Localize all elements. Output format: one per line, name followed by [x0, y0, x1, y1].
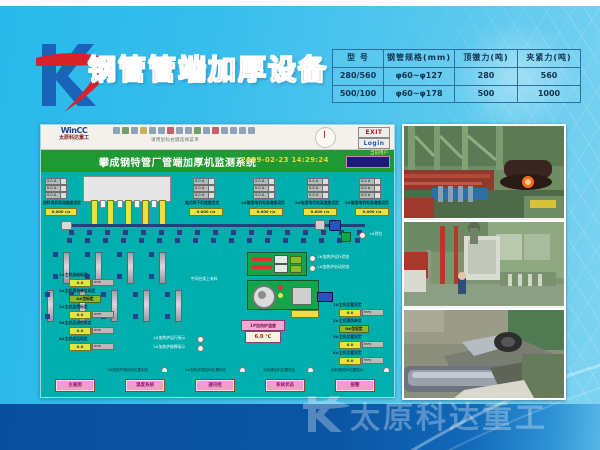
param-name: 4#主机成品标定 — [59, 336, 88, 342]
param-unit: mm — [94, 344, 101, 349]
lamp-indicator — [197, 336, 204, 343]
readout-value: 0.0 A — [361, 186, 370, 191]
readout-unit — [268, 186, 274, 191]
param-unit-box: mm — [92, 327, 114, 334]
cell-model: 500/100 — [333, 85, 384, 103]
readout: 0.0 A — [307, 192, 329, 199]
readout-value: 0.0 A — [361, 193, 370, 198]
param-value[interactable]: 0.0 — [69, 279, 91, 287]
wincc-logo-text: WinCC — [45, 126, 103, 135]
nozzle-icon — [117, 200, 123, 208]
param-name: 3#主机后退位标定 — [59, 320, 91, 326]
furnace-column — [107, 200, 114, 226]
hmi-button-main[interactable]: 主画面 — [55, 379, 95, 392]
undo-icon[interactable] — [167, 127, 174, 134]
readout: 0.0 A — [45, 185, 67, 192]
center-note-badge — [291, 310, 319, 318]
readout: 0.0 A — [193, 178, 215, 185]
side-note: 1#到位 — [369, 231, 382, 237]
lamp-label: 1#加热炉故障指示 — [153, 344, 185, 350]
speed-setpoint-field[interactable]: 0.000 r/s — [355, 208, 389, 216]
trend-icon[interactable] — [248, 127, 255, 134]
param-value[interactable]: 0#位标定 — [69, 295, 101, 303]
hmi-title-bar: 攀成钢特管厂管端加厚机监测系统 2009-02-23 14:29:24 当前用户 — [41, 150, 394, 172]
open-icon[interactable] — [113, 127, 120, 134]
watermark-text: 太原科达重工 — [350, 393, 548, 437]
param-value[interactable]: 0.0 — [69, 343, 91, 351]
readout-value: 0.0 A — [255, 186, 264, 191]
readout-value: 0.0 A — [195, 179, 204, 184]
photo-thickened-pipe-end-closeup — [402, 308, 566, 400]
readout: 0.0 A — [307, 178, 329, 185]
cell-pipe-size: φ60~φ127 — [384, 67, 455, 85]
nozzle-icon — [100, 200, 106, 208]
param-name: 2#主机预热单位标定 — [59, 288, 95, 294]
param-name: 1#主机位置设定 — [333, 302, 362, 308]
hmi-toolbar: WinCC 太原科达重工 请用鼠标右键选择 — [41, 125, 394, 150]
copy-icon[interactable] — [149, 127, 156, 134]
furnace-column — [142, 200, 149, 226]
cell-model: 280/560 — [333, 67, 384, 85]
redo-icon[interactable] — [176, 127, 183, 134]
readout-unit — [208, 193, 214, 198]
param-value[interactable]: 0.0 — [69, 311, 91, 319]
readout: 0.0 A — [359, 178, 381, 185]
readout-value: 0.0 A — [255, 179, 264, 184]
readout-caption: 2#辊道电机电流速度设定 — [295, 200, 339, 206]
param-unit: mm — [94, 328, 101, 333]
temp-label-text: 1#加热炉温度 — [242, 321, 284, 330]
param-unit-box: mm — [362, 309, 384, 316]
param-name: 3#主机位置设定 — [333, 334, 362, 340]
furnace-column — [125, 200, 132, 226]
spec-col-upset-force: 顶镦力(吨) — [454, 50, 517, 68]
readout-value: 0.0 A — [195, 186, 204, 191]
param-unit-box: mm — [92, 279, 114, 286]
status-indicator-green — [341, 232, 351, 242]
hmi-mimic-area: 0.0 A 0.0 A 0.0 A 烘料电机电流速度设定 0.000 r/s 0… — [41, 172, 394, 398]
param-unit: mm — [94, 312, 101, 317]
temp-unit: ℃ — [265, 334, 271, 340]
cell-upset-force: 280 — [454, 67, 517, 85]
temp-value-display: 6.0 ℃ — [245, 331, 281, 343]
zoom-out-icon[interactable] — [194, 127, 201, 134]
paste-icon[interactable] — [158, 127, 165, 134]
param-unit: mm — [364, 358, 371, 363]
readout-value: 0.0 A — [361, 179, 370, 184]
center-note: 中间台架上有料 — [191, 276, 218, 282]
readout-unit — [60, 179, 66, 184]
exit-button[interactable]: EXIT — [358, 127, 390, 138]
readout-unit — [268, 179, 274, 184]
readout-unit — [60, 186, 66, 191]
readout-value: 0.0 A — [309, 179, 318, 184]
alarm-icon[interactable] — [212, 127, 219, 134]
cell-pipe-size: φ60~φ178 — [384, 85, 455, 103]
speed-setpoint-field[interactable]: 0.000 r/s — [189, 208, 223, 216]
readout: 0.0 A — [359, 185, 381, 192]
settings-icon[interactable] — [230, 127, 237, 134]
readout: 0.0 A — [253, 178, 275, 185]
wincc-logo: WinCC 太原科达重工 — [45, 126, 103, 142]
param-unit-box: mm — [362, 341, 384, 348]
param-unit-box: mm — [92, 311, 114, 318]
readout-caption: 3#辊道电机电流速度设定 — [345, 200, 389, 206]
param-name: 2#主机预热单位 — [333, 318, 362, 324]
photo-upsetting-machine-workshop — [402, 220, 566, 308]
spec-table-header-row: 型 号 钢管规格(mm) 顶镦力(吨) 夹紧力(吨) — [333, 50, 581, 68]
readout-caption: 辊式烘干机速度设定 — [185, 200, 219, 206]
speed-setpoint-field[interactable]: 0.000 r/s — [249, 208, 283, 216]
pump-icon — [61, 221, 72, 230]
readout-caption: 1#辊道电机电流速度设定 — [241, 200, 285, 206]
cell-upset-force: 500 — [454, 85, 517, 103]
cut-icon[interactable] — [140, 127, 147, 134]
print-icon[interactable] — [131, 127, 138, 134]
readout-value: 0.0 A — [47, 179, 56, 184]
login-button[interactable]: Login — [358, 138, 390, 149]
upsetting-machine-icon — [247, 280, 319, 310]
furnace-column — [159, 200, 166, 226]
readout-unit — [322, 193, 328, 198]
readout-value: 0.0 A — [309, 186, 318, 191]
report-icon[interactable] — [239, 127, 246, 134]
readout: 0.0 A — [193, 192, 215, 199]
zoom-in-icon[interactable] — [185, 127, 192, 134]
readout: 0.0 A — [253, 192, 275, 199]
lamp-label: 1#加热炉运行状态 — [317, 254, 349, 260]
temp-value: 6.0 — [255, 334, 264, 340]
param-unit: mm — [364, 342, 371, 347]
status-lamp — [359, 232, 366, 239]
save-icon[interactable] — [122, 127, 129, 134]
param-name: 4#主机位置设定 — [333, 350, 362, 356]
param-name: 2#主机加热标定 — [59, 304, 88, 310]
param-value[interactable]: 0.0 — [339, 309, 361, 317]
readout: 0.0 A — [45, 192, 67, 199]
cylinder-icon — [317, 292, 333, 302]
toolbar-icon-row[interactable] — [113, 127, 255, 134]
nozzle-icon — [151, 200, 157, 208]
readout: 0.0 A — [307, 185, 329, 192]
roller-row-top — [69, 230, 365, 236]
toolbar-hint: 请用鼠标右键选择菜单 — [151, 137, 199, 143]
lamp-run — [309, 255, 316, 262]
spec-table: 型 号 钢管规格(mm) 顶镦力(吨) 夹紧力(吨) 280/560 φ60~φ… — [332, 49, 581, 103]
readout-value: 0.0 A — [255, 193, 264, 198]
spec-col-pipe-size: 钢管规格(mm) — [384, 50, 455, 68]
clock-icon — [315, 127, 336, 148]
hmi-datetime: 2009-02-23 14:29:24 — [241, 156, 329, 164]
param-unit-box: mm — [362, 357, 384, 364]
wincc-logo-sub: 太原科达重工 — [45, 135, 103, 142]
readout-value: 0.0 A — [309, 193, 318, 198]
hmi-button-comm[interactable]: 通讯组 — [195, 379, 235, 392]
readout-unit — [268, 193, 274, 198]
hmi-button-alarm[interactable]: 报警 — [335, 379, 375, 392]
readout-unit — [208, 179, 214, 184]
current-user-field[interactable] — [346, 156, 390, 168]
lamp-start — [309, 265, 316, 272]
readout-unit — [322, 179, 328, 184]
readout: 0.0 A — [253, 185, 275, 192]
param-unit-box: mm — [92, 343, 114, 350]
spec-col-model: 型 号 — [333, 50, 384, 68]
readout: 0.0 A — [45, 178, 67, 185]
grid-icon[interactable] — [203, 127, 210, 134]
readout-unit — [374, 186, 380, 191]
param-unit: mm — [364, 310, 371, 315]
readout-unit — [374, 193, 380, 198]
readout-value: 0.0 A — [47, 193, 56, 198]
readout: 0.0 A — [193, 185, 215, 192]
spec-col-clamp-force: 夹紧力(吨) — [517, 50, 580, 68]
readout-unit — [60, 193, 66, 198]
hmi-screenshot: WinCC 太原科达重工 请用鼠标右键选择 — [40, 124, 395, 398]
param-unit: mm — [94, 280, 101, 285]
cell-clamp-force: 560 — [517, 67, 580, 85]
photo-hot-pipe-rolling-line — [402, 124, 566, 220]
page-title: 钢管管端加厚设备 — [88, 48, 328, 88]
param-value[interactable]: 0.0 — [69, 327, 91, 335]
readout-unit — [374, 179, 380, 184]
cell-clamp-force: 1000 — [517, 85, 580, 103]
readout-unit — [208, 186, 214, 191]
furnace-body — [83, 176, 171, 202]
hmi-button-temp[interactable]: 温度系统 — [125, 379, 165, 392]
slide-root: 钢管管端加厚设备 型 号 钢管规格(mm) 顶镦力(吨) 夹紧力(吨) 280/… — [0, 0, 600, 450]
table-row: 500/100 φ60~φ178 500 1000 — [333, 85, 581, 103]
param-value[interactable]: 0#位设定 — [339, 325, 369, 333]
speed-setpoint-field[interactable]: 0.000 r/s — [45, 208, 77, 216]
furnace-column — [91, 200, 98, 226]
table-row: 280/560 φ60~φ127 280 560 — [333, 67, 581, 85]
param-value[interactable]: 0.0 — [339, 357, 361, 365]
readout: 0.0 A — [359, 192, 381, 199]
readout-value: 0.0 A — [47, 186, 56, 191]
roller-row-bottom — [65, 238, 365, 244]
temp-panel-label: 1#加热炉温度 — [241, 320, 285, 331]
hmi-button-status[interactable]: 系统状态 — [265, 379, 305, 392]
readout-caption: 烘料电机电流速度设定 — [43, 200, 81, 206]
readout-unit — [322, 186, 328, 191]
hydraulic-panel — [247, 252, 307, 276]
lamp-label: 1#加热炉运行指示 — [153, 335, 185, 341]
readout-value: 0.0 A — [195, 193, 204, 198]
hmi-system-title: 攀成钢特管厂管端加厚机监测系统 — [99, 154, 257, 169]
help-icon[interactable] — [221, 127, 228, 134]
param-name: 1#主机进给标定 — [59, 272, 88, 278]
param-value[interactable]: 0.0 — [339, 341, 361, 349]
gearbox-icon — [315, 220, 325, 230]
lamp-indicator — [197, 345, 204, 352]
watermark-logo-icon — [300, 392, 352, 436]
nozzle-icon — [134, 200, 140, 208]
lamp-label: 1#加热炉启动状态 — [317, 264, 349, 270]
speed-setpoint-field[interactable]: 0.000 r/s — [303, 208, 337, 216]
